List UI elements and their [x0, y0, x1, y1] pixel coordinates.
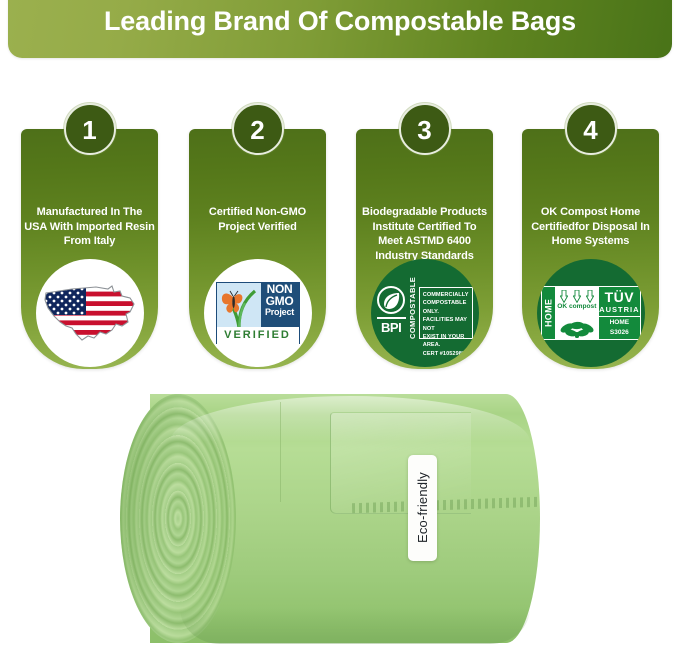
feature-card-3: 3 Biodegradable Products Institute Certi…: [356, 129, 493, 369]
bpi-wordmark: BPI: [377, 317, 406, 335]
usa-flag-map-icon: [36, 259, 144, 367]
butterfly-grass-svg: [217, 283, 261, 327]
tuv-left-panel: HOME OK co: [542, 287, 600, 339]
tuv-cert-line-2: S3026: [599, 327, 639, 337]
down-arrows-group: [555, 290, 600, 303]
tuv-austria-ok-compost-home-logo: HOME OK co: [537, 259, 645, 367]
card-description: Manufactured In The USA With Imported Re…: [24, 205, 155, 249]
tuv-compost-graphic: OK compost: [555, 287, 600, 339]
down-arrow-icon: [586, 290, 594, 303]
nongmo-upper: NON GMO Project: [217, 283, 299, 327]
bpi-fine-print-line: COMMERCIALLY: [423, 291, 469, 299]
tuv-logo-box: HOME OK co: [541, 286, 641, 340]
card-description: Certified Non-GMO Project Verified: [192, 205, 323, 234]
nongmo-wordmark: NON GMO Project: [261, 283, 299, 327]
eco-friendly-label: Eco-friendly: [408, 455, 437, 561]
bpi-mark: BPI: [377, 286, 406, 340]
bpi-fine-print-line: FACILITIES MAY NOT: [423, 316, 469, 333]
usa-flag-map-svg: [42, 282, 138, 344]
card-description: OK Compost Home Certifiedfor Disposal In…: [525, 205, 656, 249]
bpi-logo-box: BPI COMPOSTABLE COMMERCIALLY COMPOSTABLE…: [377, 285, 473, 341]
tuv-brand-panel: TÜV AUSTRIA HOME S3026: [599, 287, 639, 339]
compost-leaves-icon: [555, 320, 599, 338]
bpi-compostable-logo: BPI COMPOSTABLE COMMERCIALLY COMPOSTABLE…: [371, 259, 479, 367]
bpi-fine-print-line: EXIST IN YOUR AREA.: [423, 333, 469, 350]
nongmo-logo-box: NON GMO Project VERIFIED: [216, 282, 300, 344]
tuv-home-vertical-label: HOME: [542, 287, 555, 339]
product-photo: Eco-friendly: [0, 372, 679, 665]
feature-cards-row: 1 Manufactured In The USA With Imported …: [0, 102, 679, 374]
nongmo-line-gmo: GMO: [261, 295, 299, 307]
nongmo-line-project: Project: [261, 307, 299, 318]
tuv-ok-compost-label: OK compost: [555, 303, 600, 310]
bpi-leaf-svg: [379, 288, 405, 314]
non-gmo-project-verified-logo: NON GMO Project VERIFIED: [204, 259, 312, 367]
tuv-region-text: AUSTRIA: [599, 305, 639, 317]
page-title: Leading Brand Of Compostable Bags: [8, 6, 672, 37]
card-number-badge: 4: [565, 103, 617, 155]
nongmo-verified-bar: VERIFIED: [217, 327, 299, 344]
bag-roll-coiled-end: [120, 394, 236, 643]
feature-card-4: 4 OK Compost Home Certifiedfor Disposal …: [522, 129, 659, 369]
bpi-fine-print: COMMERCIALLY COMPOSTABLE ONLY. FACILITIE…: [419, 287, 473, 339]
eco-friendly-label-text: Eco-friendly: [415, 472, 430, 543]
butterfly-grass-icon: [217, 283, 261, 327]
bpi-compostable-vertical-text: COMPOSTABLE: [408, 287, 417, 339]
tuv-cert-line-1: HOME: [599, 317, 639, 327]
card-number-badge: 2: [232, 103, 284, 155]
card-description: Biodegradable Products Institute Certifi…: [359, 205, 490, 263]
bpi-leaf-icon: [377, 286, 405, 314]
feature-card-1: 1 Manufactured In The USA With Imported …: [21, 129, 158, 369]
card-number-badge: 3: [399, 103, 451, 155]
feature-card-2: 2 Certified Non-GMO Project Verified: [189, 129, 326, 369]
down-arrow-icon: [560, 290, 568, 303]
bpi-fine-print-line: COMPOSTABLE ONLY.: [423, 299, 469, 316]
card-number-badge: 1: [64, 103, 116, 155]
down-arrow-icon: [573, 290, 581, 303]
tuv-brand-text: TÜV: [599, 290, 639, 305]
header-banner: Leading Brand Of Compostable Bags: [8, 0, 672, 58]
